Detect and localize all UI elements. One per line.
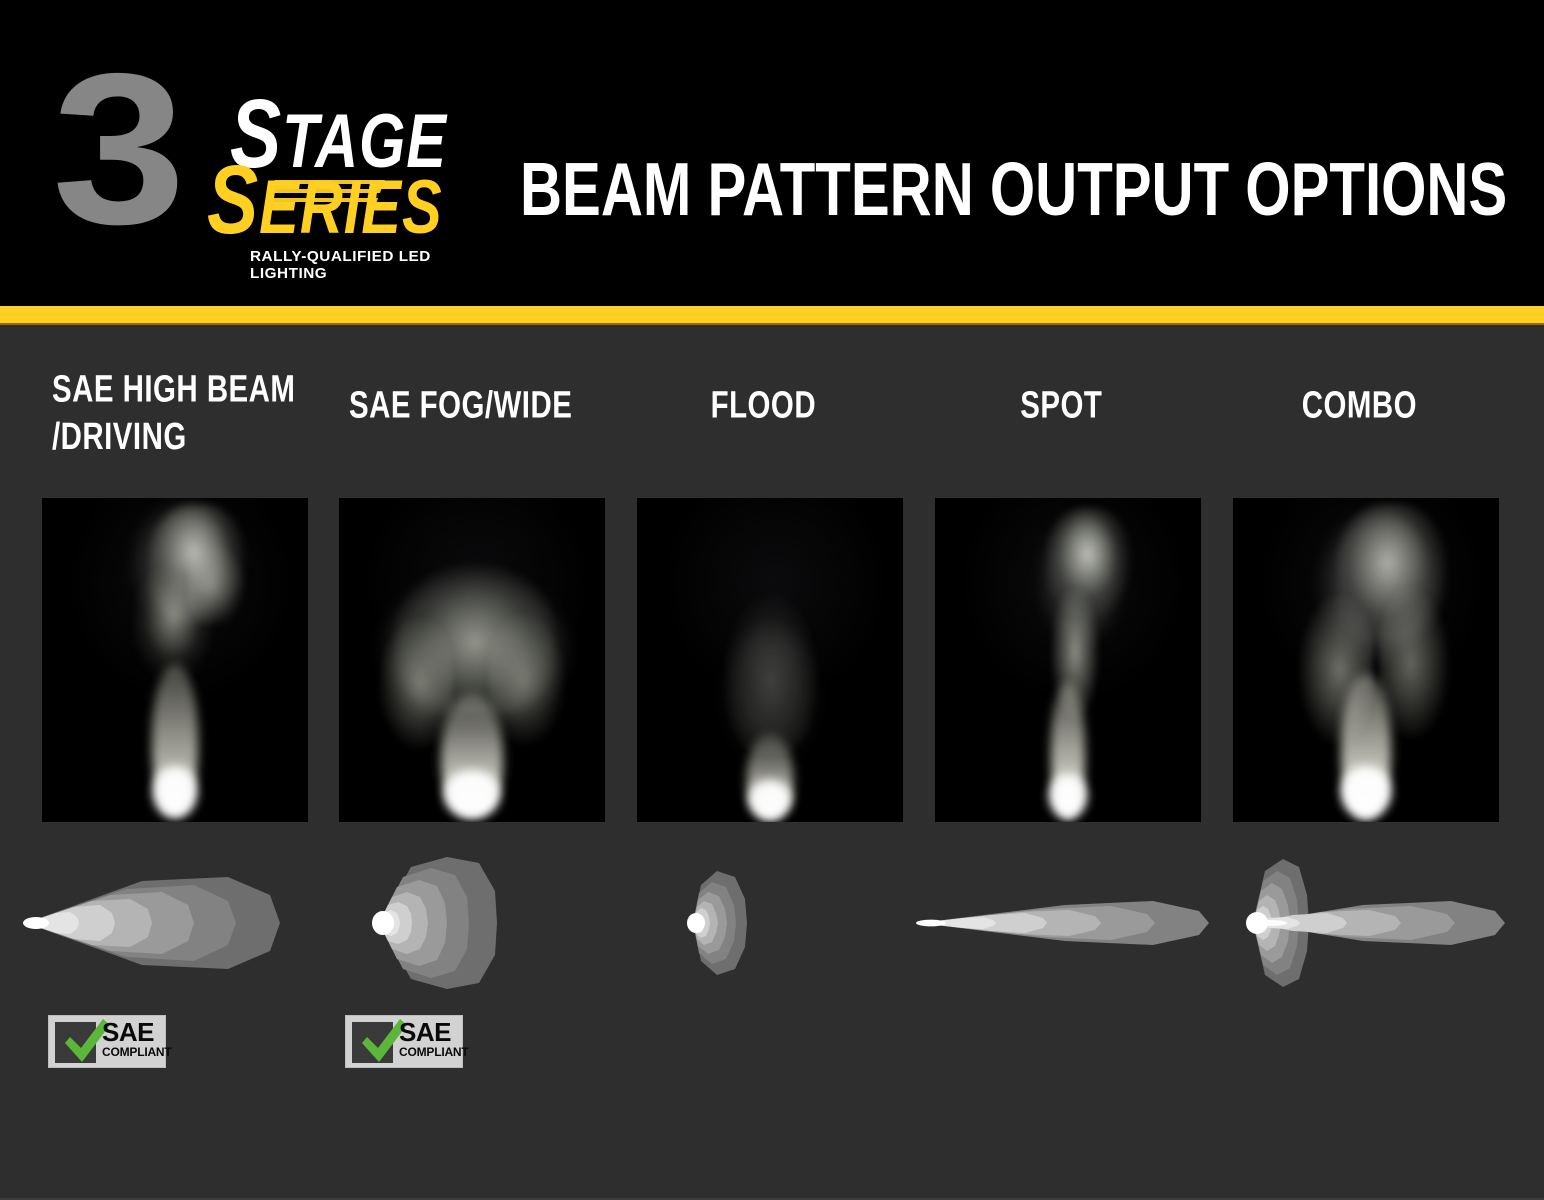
beam-photo-sae-fog-wide [339, 498, 605, 822]
photo-hotspot [1049, 774, 1087, 818]
badge-text: SAE COMPLIANT [399, 1019, 461, 1059]
badge-subtitle: COMPLIANT [102, 1046, 164, 1059]
photo-hotspot [1341, 766, 1391, 818]
logo-word-series: SERIES [207, 162, 443, 246]
beam-diagram-spot [915, 855, 1225, 990]
logo-series-capital: S [207, 145, 259, 254]
photo-glow [1325, 514, 1435, 654]
beam-option-label-line1: SPOT [935, 381, 1188, 429]
beam-option-label-line1: FLOOD [637, 381, 890, 429]
logo-numeral-3: 3 [52, 54, 177, 244]
beam-photo-sae-high-beam-driving [42, 498, 308, 822]
beam-option-label-line2: /DRIVING [52, 413, 337, 461]
badge-text: SAE COMPLIANT [102, 1019, 164, 1059]
sae-compliant-badge: SAE COMPLIANT [345, 1015, 463, 1068]
photo-hotspot [153, 766, 197, 818]
beam-photo-flood [637, 498, 903, 822]
badge-subtitle: COMPLIANT [399, 1046, 461, 1059]
page-title: BEAM PATTERN OUTPUT OPTIONS [520, 150, 1507, 230]
beam-option-label-line1: COMBO [1233, 381, 1486, 429]
beam-option-label-line1: SAE FOG/WIDE [349, 381, 634, 429]
beam-photo-spot [935, 498, 1201, 822]
beam-option-label: FLOOD [637, 381, 890, 429]
beam-option-label: SPOT [935, 381, 1188, 429]
beam-diagram-combo [1213, 855, 1523, 990]
badge-title: SAE [102, 1019, 164, 1046]
photo-glow [1045, 518, 1117, 638]
photo-hotspot [749, 780, 791, 818]
logo-tagline: RALLY-QUALIFIED LED LIGHTING [250, 248, 476, 282]
beam-photo-combo [1233, 498, 1499, 822]
beam-option-label: SAE HIGH BEAM /DRIVING [52, 365, 337, 460]
beam-option-label: COMBO [1233, 381, 1486, 429]
beam-diagram-flood [617, 855, 927, 990]
photo-glow [138, 508, 228, 618]
photo-hotspot [444, 770, 500, 818]
beam-option-label: SAE FOG/WIDE [349, 381, 634, 429]
photo-glow [387, 578, 563, 718]
beam-diagram-fog-wide [319, 855, 629, 990]
stage-series-logo: 3 STAGE SERIES RALLY-QUALIFIED LED LIGHT… [52, 52, 472, 242]
beam-pattern-infographic: 3 STAGE SERIES RALLY-QUALIFIED LED LIGHT… [0, 0, 1544, 1200]
badge-title: SAE [399, 1019, 461, 1046]
photo-glow [729, 628, 813, 758]
beam-options-grid: SAE HIGH BEAM /DRIVING [0, 325, 1544, 1200]
header-bar: 3 STAGE SERIES RALLY-QUALIFIED LED LIGHT… [0, 0, 1544, 306]
beam-diagram-driving [22, 855, 332, 990]
beam-option-label-line1: SAE HIGH BEAM [52, 365, 337, 413]
accent-divider-bar [0, 306, 1544, 325]
logo-series-rest: ERIES [259, 166, 442, 250]
sae-compliant-badge: SAE COMPLIANT [48, 1015, 166, 1068]
